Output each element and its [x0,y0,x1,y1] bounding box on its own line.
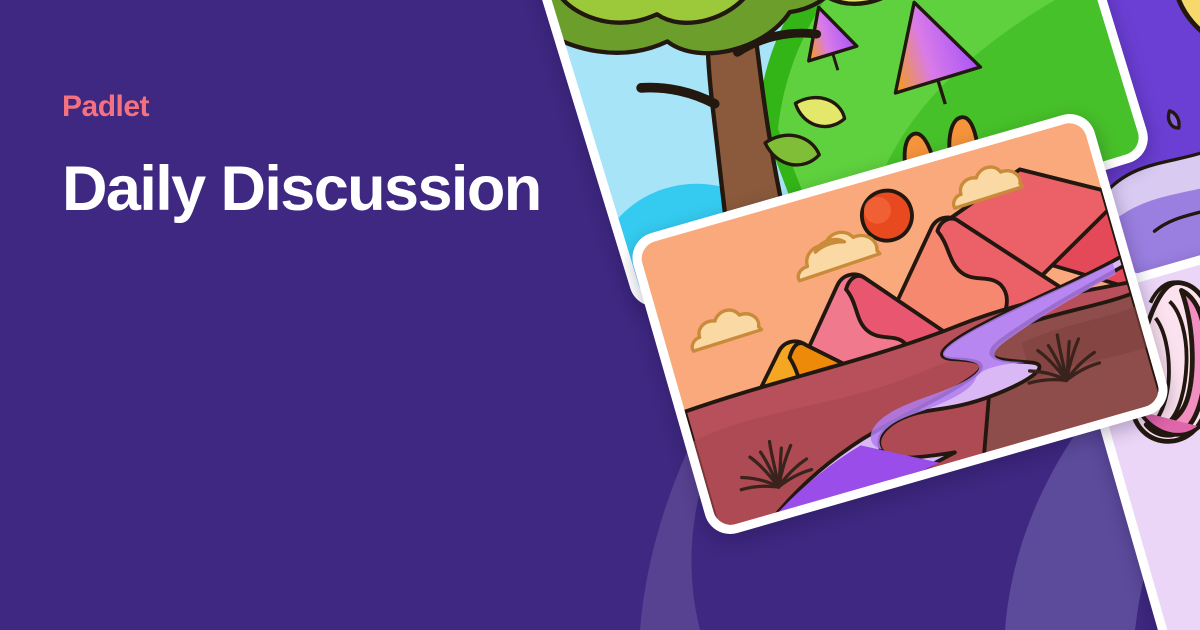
share-card-canvas: Padlet Daily Discussion [0,0,1200,630]
text-block: Padlet Daily Discussion [62,92,541,222]
padlet-logo[interactable]: Padlet [62,92,541,122]
page-title: Daily Discussion [62,156,541,222]
